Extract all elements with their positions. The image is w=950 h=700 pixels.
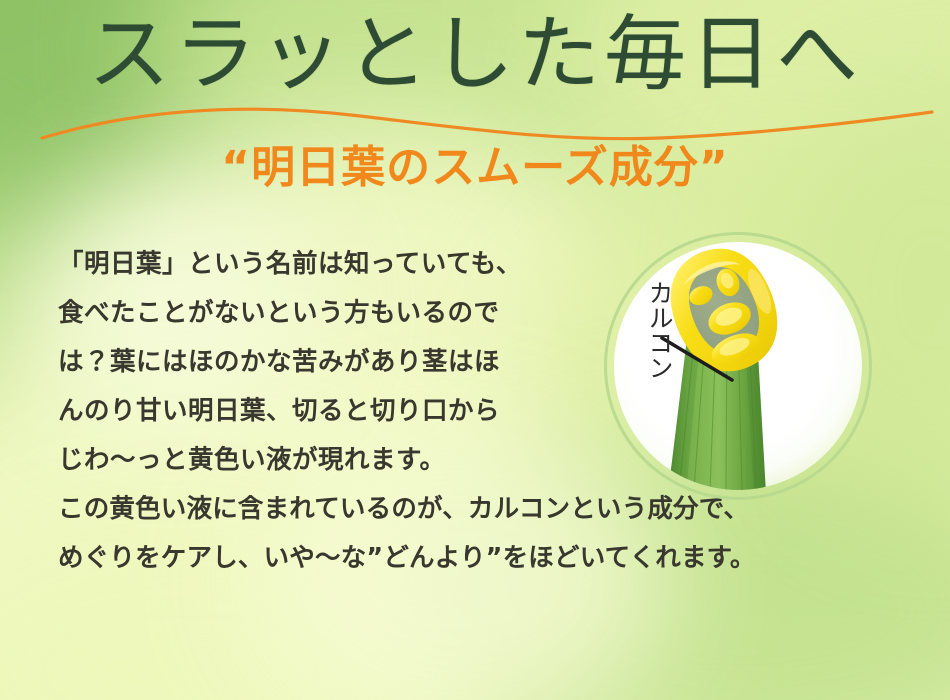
body-line: めぐりをケアし、いや〜な”どんより”をほどいてくれます。 [58, 534, 898, 583]
body-line: は？葉にはほのかな苦みがあり茎はほ [58, 338, 618, 387]
page-title: スラッとした毎日へ [0, 12, 950, 98]
chalcone-illustration: カルコン [604, 232, 872, 500]
body-line: 食べたことがないという方もいるので [58, 289, 618, 338]
headline-block: スラッとした毎日へ [0, 12, 950, 132]
ashitaba-promo-banner: スラッとした毎日へ “明日葉のスムーズ成分” 「明日葉」という名前は知っていても… [0, 0, 950, 700]
subtitle-block: “明日葉のスムーズ成分” [0, 146, 950, 190]
body-line: じわ〜っと黄色い液が現れます。 [58, 436, 618, 485]
chalcone-label: カルコン [640, 274, 674, 386]
body-line: んのり甘い明日葉、切ると切り口から [58, 387, 618, 436]
subtitle: “明日葉のスムーズ成分” [221, 146, 729, 190]
body-line: 「明日葉」という名前は知っていても、 [58, 240, 618, 289]
